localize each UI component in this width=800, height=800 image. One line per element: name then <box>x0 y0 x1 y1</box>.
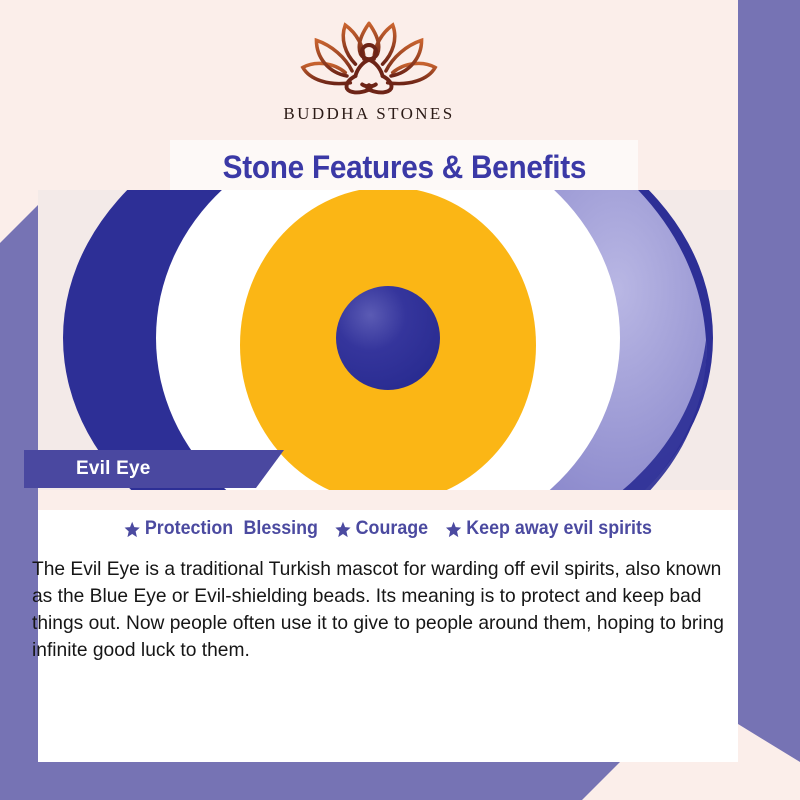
lotus-meditation-icon <box>284 20 454 98</box>
page-title: Stone Features & Benefits <box>222 149 585 186</box>
brand-wordmark: BUDDHA STONES <box>283 104 454 124</box>
decorative-band-bottom <box>0 762 620 800</box>
description-paragraph: The Evil Eye is a traditional Turkish ma… <box>32 556 739 664</box>
feature-item-keep-away-evil-spirits: Keep away evil spirits <box>445 518 651 540</box>
poster-canvas: BUDDHA STONES Stone Features & Benefits <box>0 0 800 800</box>
star-icon <box>124 521 140 538</box>
feature-label-protection: Protection <box>144 518 232 540</box>
decorative-band-left <box>0 205 38 800</box>
evil-eye-bead-icon <box>38 190 738 490</box>
evil-eye-graphic <box>38 190 738 490</box>
feature-item-courage: Courage <box>335 518 428 540</box>
feature-label-courage: Courage <box>355 518 427 540</box>
ribbon-shape <box>24 450 284 488</box>
feature-label-keep-away: Keep away evil spirits <box>466 518 652 540</box>
feature-item-protection: Protection Blessing <box>124 518 318 540</box>
title-banner: Stone Features & Benefits <box>170 140 638 195</box>
brand-header: BUDDHA STONES <box>0 0 738 140</box>
evil-eye-label-text: Evil Eye <box>76 450 150 488</box>
star-icon <box>445 521 461 538</box>
feature-label-blessing: Blessing <box>243 518 317 540</box>
feature-list: Protection Blessing Courage Keep away ev… <box>38 518 738 540</box>
star-icon <box>335 521 351 538</box>
decorative-band-right <box>738 0 800 762</box>
evil-eye-label-banner: Evil Eye <box>24 450 284 488</box>
